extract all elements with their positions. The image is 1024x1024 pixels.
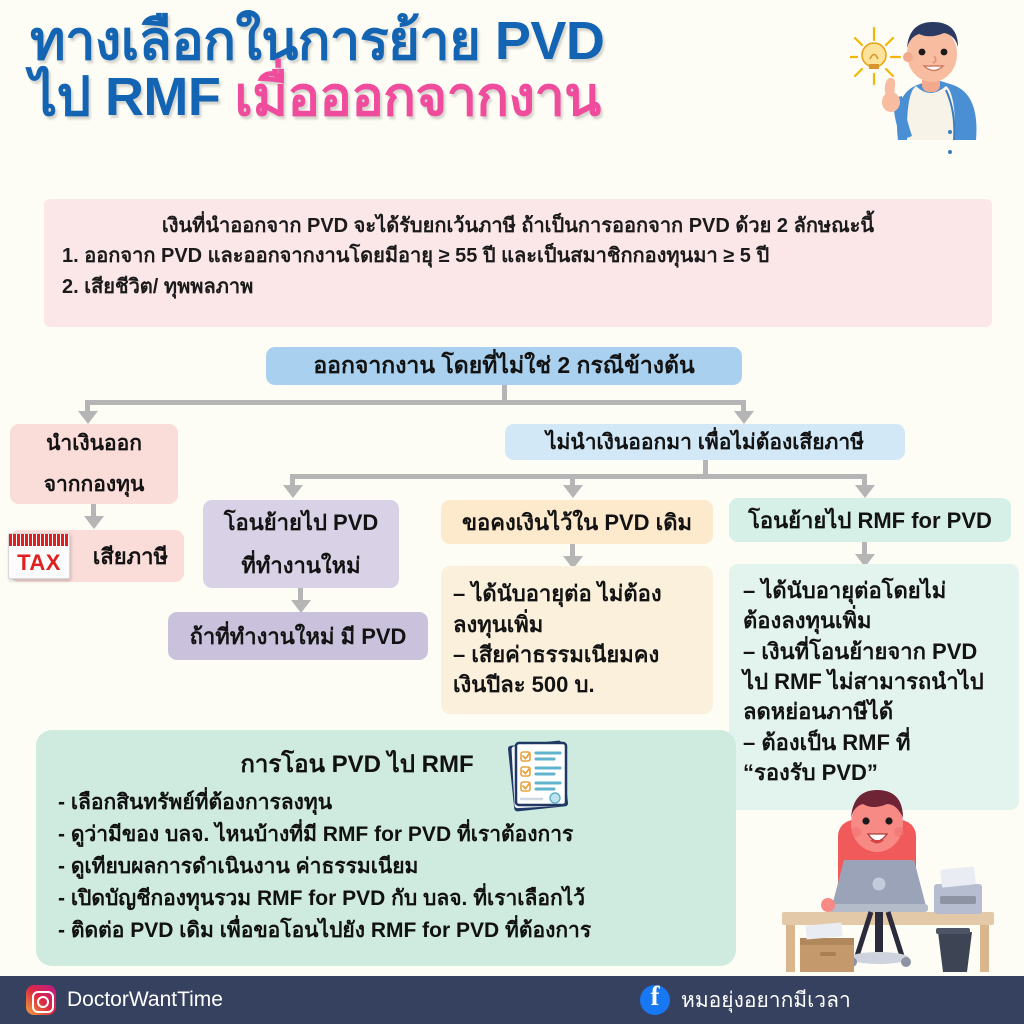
transfer-new-pvd-line1: โอนย้ายไป PVD (224, 505, 379, 540)
transfer-rmf-label: โอนย้ายไป RMF for PVD (748, 503, 992, 538)
arrow-to-option3 (855, 485, 875, 498)
facebook-icon[interactable] (640, 985, 670, 1015)
title-line-1: ทางเลือกในการย้าย PVD (30, 14, 870, 70)
flow-root-label: ออกจากงาน โดยที่ไม่ใช่ 2 กรณีข้างต้น (313, 348, 694, 384)
arrow-to-right-branch (734, 411, 754, 424)
checklist-item: - ติดต่อ PVD เดิม เพื่อขอโอนไปยัง RMF fo… (58, 915, 716, 947)
opt2-detail-line-1: – ได้นับอายุต่อ ไม่ต้อง (453, 579, 703, 609)
man-at-desk-illustration (748, 772, 1018, 972)
arrow-withdraw-to-tax (84, 516, 104, 529)
pvd-to-rmf-checklist-panel: การโอน PVD ไป RMF - เลือกสินทรัพย์ที่ต้อ… (36, 730, 736, 966)
opt3-detail-line-1: – ได้นับอายุต่อโดยไม่ (743, 576, 1011, 606)
withdraw-label-line1: นำเงินออก (46, 427, 142, 460)
tax-icon-label: TAX (9, 546, 69, 579)
checklist-title: การโอน PVD ไป RMF (58, 744, 716, 783)
checklist-item: - เลือกสินทรัพย์ที่ต้องการลงทุน (58, 787, 716, 819)
instagram-block[interactable]: DoctorWantTime (26, 985, 223, 1015)
instagram-handle: DoctorWantTime (67, 988, 223, 1012)
opt2-detail-line-4: เงินปีละ 500 บ. (453, 670, 703, 700)
checklist-item: - ดูว่ามีของ บลจ. ไหนบ้างที่มี RMF for P… (58, 819, 716, 851)
transfer-to-new-pvd-box: โอนย้ายไป PVD ที่ทำงานใหม่ (203, 500, 399, 588)
opt3-detail-line-5: ลดหย่อนภาษีได้ (743, 697, 1011, 727)
opt3-detail-line-6: – ต้องเป็น RMF ที่ (743, 728, 1011, 758)
title-line-2: ไป RMF เมื่อออกจากงาน (30, 70, 870, 126)
new-workplace-has-pvd-box: ถ้าที่ทำงานใหม่ มี PVD (168, 612, 428, 660)
tax-icon-top-bar (9, 534, 69, 546)
tax-exemption-info-panel: เงินที่นำออกจาก PVD จะได้รับยกเว้นภาษี ถ… (44, 199, 992, 327)
facebook-handle: หมอยุ่งอยากมีเวลา (681, 984, 851, 1017)
checkbox-marks (521, 752, 530, 791)
opt2-detail-line-2: ลงทุนเพิ่ม (453, 610, 703, 640)
checklist-item: - เปิดบัญชีกองทุนรวม RMF for PVD กับ บลจ… (58, 883, 716, 915)
arrow-to-option2 (563, 485, 583, 498)
facebook-block[interactable]: หมอยุ่งอยากมีเวลา (640, 984, 851, 1017)
page-title: ทางเลือกในการย้าย PVD ไป RMF เมื่อออกจาก… (30, 14, 870, 125)
idea-man-illustration (850, 12, 1000, 192)
checklist-item: - ดูเทียบผลการดำเนินงาน ค่าธรรมเนียม (58, 851, 716, 883)
checklist-document-icon (498, 734, 582, 818)
pay-tax-label: เสียภาษี (93, 539, 168, 574)
new-workplace-has-pvd-label: ถ้าที่ทำงานใหม่ มี PVD (190, 619, 407, 654)
keep-in-old-pvd-box: ขอคงเงินไว้ใน PVD เดิม (441, 500, 713, 544)
withdraw-label-line2: จากกองทุน (44, 468, 145, 501)
instagram-icon[interactable] (26, 985, 56, 1015)
keep-in-old-pvd-details: – ได้นับอายุต่อ ไม่ต้อง ลงทุนเพิ่ม – เสี… (441, 566, 713, 714)
keep-money-label: ไม่นำเงินออกมา เพื่อไม่ต้องเสียภาษี (546, 426, 864, 459)
arrow-to-left-branch (78, 411, 98, 424)
info-lead-text: เงินที่นำออกจาก PVD จะได้รับยกเว้นภาษี ถ… (62, 211, 974, 241)
keep-in-old-pvd-label: ขอคงเงินไว้ใน PVD เดิม (462, 505, 692, 540)
opt3-detail-line-2: ต้องลงทุนเพิ่ม (743, 606, 1011, 636)
title-line-2-pink: เมื่อออกจากงาน (234, 70, 600, 126)
opt3-detail-line-4: ไป RMF ไม่สามารถนำไป (743, 667, 1011, 697)
opt2-detail-line-3: – เสียค่าธรรมเนียมคง (453, 640, 703, 670)
info-item-1: 1. ออกจาก PVD และออกจากงานโดยมีอายุ ≥ 55… (62, 241, 974, 272)
transfer-new-pvd-line2: ที่ทำงานใหม่ (241, 548, 360, 583)
social-footer-bar: DoctorWantTime หมอยุ่งอยากมีเวลา (0, 976, 1024, 1024)
arrow-to-option1 (283, 485, 303, 498)
transfer-to-rmf-for-pvd-box: โอนย้ายไป RMF for PVD (729, 498, 1011, 542)
infographic-canvas: ทางเลือกในการย้าย PVD ไป RMF เมื่อออกจาก… (0, 0, 1024, 1024)
connector-keep-split (290, 474, 867, 479)
keep-money-in-box: ไม่นำเงินออกมา เพื่อไม่ต้องเสียภาษี (505, 424, 905, 460)
connector-root-split (85, 400, 745, 405)
flow-root-box: ออกจากงาน โดยที่ไม่ใช่ 2 กรณีข้างต้น (266, 347, 742, 385)
title-line-2-blue: ไป RMF (30, 70, 220, 126)
opt3-detail-line-3: – เงินที่โอนย้ายจาก PVD (743, 637, 1011, 667)
withdraw-from-fund-box: นำเงินออก จากกองทุน (10, 424, 178, 504)
tax-icon: TAX (8, 533, 70, 579)
info-item-2: 2. เสียชีวิต/ ทุพพลภาพ (62, 272, 974, 303)
